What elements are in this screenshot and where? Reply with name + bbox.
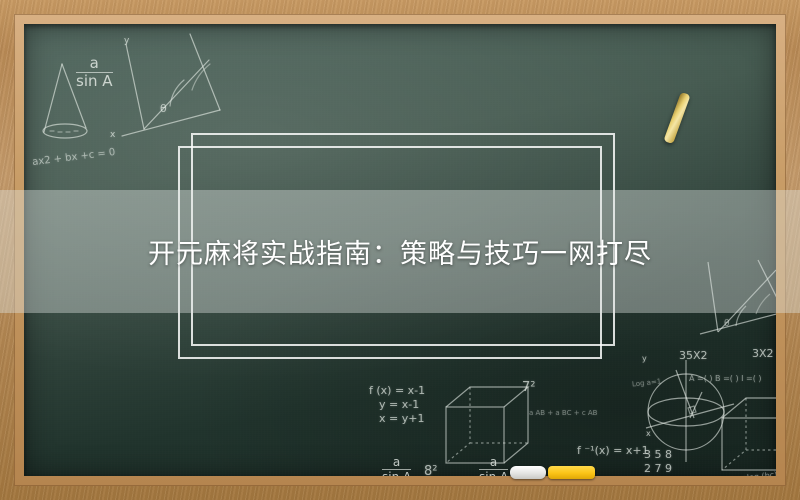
yellow-chalk-on-ledge-icon — [548, 466, 595, 479]
white-chalk-on-ledge-icon — [510, 466, 546, 479]
chalkboard-title-card: a sin A y x θ ax2 + bx +c = 0 f (x) = x-… — [0, 0, 800, 500]
page-title: 开元麻将实战指南：策略与技巧一网打尽 — [0, 190, 800, 313]
